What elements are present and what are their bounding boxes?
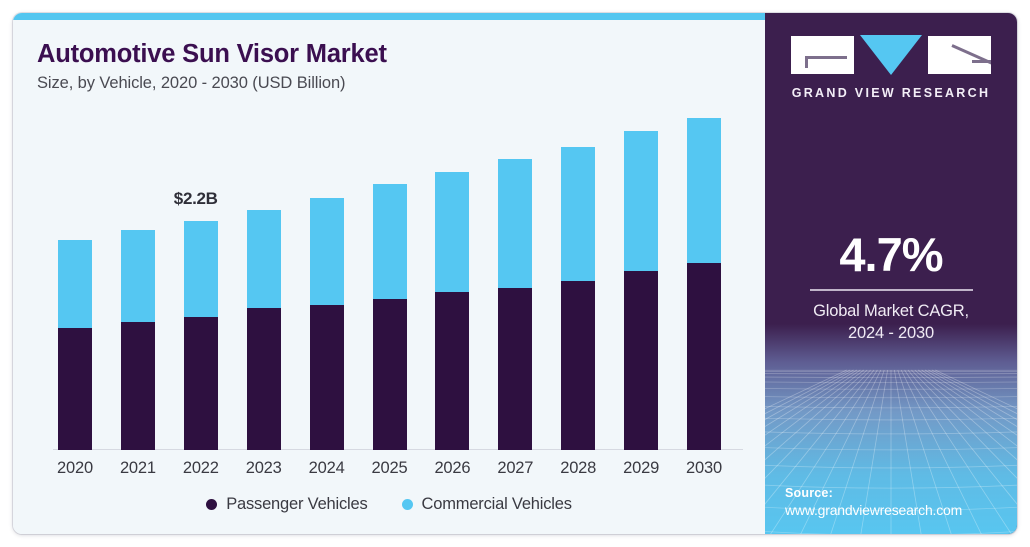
- letter-r-mark-icon: [928, 36, 991, 74]
- bar-group-2020[interactable]: [58, 240, 92, 450]
- source-url[interactable]: www.grandviewresearch.com: [785, 502, 962, 518]
- legend-label-commercial: Commercial Vehicles: [422, 495, 572, 514]
- cagr-callout: 4.7% Global Market CAGR, 2024 - 2030: [765, 231, 1017, 345]
- x-axis-label-2025: 2025: [360, 459, 420, 478]
- legend-item-passenger-vehicles[interactable]: Passenger Vehicles: [206, 495, 367, 514]
- bar-group-2023[interactable]: [247, 210, 281, 450]
- bar-segment-commercial-2029[interactable]: [624, 131, 658, 272]
- legend-label-passenger: Passenger Vehicles: [226, 495, 367, 514]
- bar-segment-commercial-2026[interactable]: [435, 172, 469, 292]
- bar-group-2024[interactable]: [310, 198, 344, 450]
- stacked-bar-plot: $2.2B 2020202120222023202420252026202720…: [13, 13, 765, 534]
- bar-segment-commercial-2021[interactable]: [121, 230, 155, 322]
- x-axis-label-2024: 2024: [297, 459, 357, 478]
- bar-segment-commercial-2023[interactable]: [247, 210, 281, 309]
- infographic-card: Automotive Sun Visor Market Size, by Veh…: [13, 13, 1017, 534]
- source-label: Source:: [785, 486, 962, 500]
- logo-marks: [765, 35, 1017, 75]
- brand-panel: GRAND VIEW RESEARCH 4.7% Global Market C…: [765, 13, 1017, 534]
- bar-group-2026[interactable]: [435, 172, 469, 450]
- x-axis-label-2020: 2020: [45, 459, 105, 478]
- chart-legend: Passenger Vehicles Commercial Vehicles: [13, 495, 765, 514]
- cagr-caption-line2: 2024 - 2030: [765, 322, 1017, 344]
- bar-segment-commercial-2020[interactable]: [58, 240, 92, 328]
- bar-segment-passenger-2023[interactable]: [247, 308, 281, 450]
- bar-segment-passenger-2027[interactable]: [498, 288, 532, 450]
- logo-wordmark: GRAND VIEW RESEARCH: [765, 86, 1017, 100]
- x-axis-label-2028: 2028: [548, 459, 608, 478]
- x-axis-label-2022: 2022: [171, 459, 231, 478]
- legend-dot-passenger: [206, 499, 217, 510]
- legend-item-commercial-vehicles[interactable]: Commercial Vehicles: [402, 495, 572, 514]
- triangle-v-mark-icon: [860, 35, 922, 75]
- chart-panel: Automotive Sun Visor Market Size, by Veh…: [13, 13, 765, 534]
- bar-segment-commercial-2028[interactable]: [561, 147, 595, 281]
- bar-segment-passenger-2029[interactable]: [624, 271, 658, 450]
- value-annotation-2022: $2.2B: [174, 189, 218, 209]
- x-axis-label-2030: 2030: [674, 459, 734, 478]
- bar-segment-passenger-2024[interactable]: [310, 305, 344, 450]
- bar-group-2021[interactable]: [121, 230, 155, 450]
- brand-logo: GRAND VIEW RESEARCH: [765, 35, 1017, 100]
- bar-segment-passenger-2022[interactable]: [184, 317, 218, 450]
- bar-segment-commercial-2024[interactable]: [310, 198, 344, 305]
- cagr-caption-line1: Global Market CAGR,: [765, 300, 1017, 322]
- bar-segment-passenger-2030[interactable]: [687, 263, 721, 450]
- source-attribution: Source: www.grandviewresearch.com: [785, 486, 962, 518]
- legend-dot-commercial: [402, 499, 413, 510]
- bar-group-2025[interactable]: [373, 184, 407, 450]
- cagr-value: 4.7%: [765, 231, 1017, 278]
- bar-group-2030[interactable]: [687, 118, 721, 450]
- bar-group-2027[interactable]: [498, 159, 532, 450]
- bar-segment-commercial-2025[interactable]: [373, 184, 407, 300]
- x-axis-label-2026: 2026: [422, 459, 482, 478]
- bar-segment-passenger-2025[interactable]: [373, 299, 407, 450]
- x-axis-label-2021: 2021: [108, 459, 168, 478]
- bar-segment-passenger-2028[interactable]: [561, 281, 595, 450]
- bar-segment-passenger-2026[interactable]: [435, 292, 469, 450]
- x-axis-label-2023: 2023: [234, 459, 294, 478]
- bar-segment-commercial-2030[interactable]: [687, 118, 721, 263]
- cagr-divider: [810, 289, 973, 291]
- bar-group-2029[interactable]: [624, 131, 658, 451]
- bar-segment-commercial-2022[interactable]: [184, 221, 218, 317]
- bar-segment-passenger-2020[interactable]: [58, 328, 92, 450]
- bar-group-2028[interactable]: [561, 147, 595, 450]
- x-axis-label-2027: 2027: [485, 459, 545, 478]
- bar-group-2022[interactable]: [184, 221, 218, 450]
- bar-segment-commercial-2027[interactable]: [498, 159, 532, 288]
- letter-g-mark-icon: [791, 36, 854, 74]
- bar-segment-passenger-2021[interactable]: [121, 322, 155, 450]
- x-axis-label-2029: 2029: [611, 459, 671, 478]
